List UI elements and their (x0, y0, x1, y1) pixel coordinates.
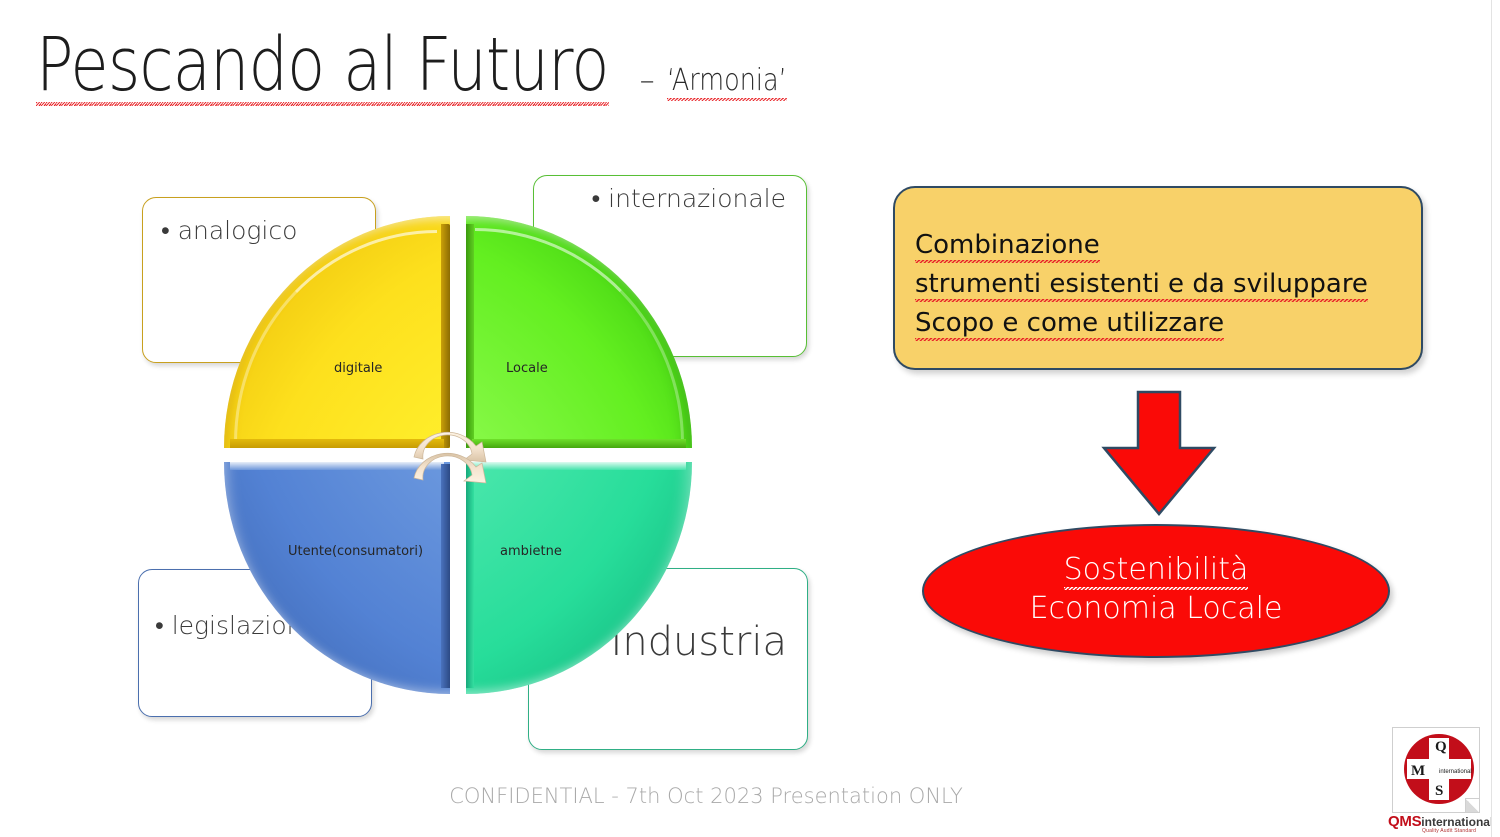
logo-page-fold-icon (1465, 798, 1479, 812)
logo-tagline: Quality Audit Standard (1422, 828, 1476, 834)
title-main-text: Pescando al Futuro (36, 28, 609, 106)
qms-logo: Q M S international QMSinternational Qua… (1386, 727, 1492, 837)
combination-callout-box[interactable]: Combinazione strumenti esistenti e da sv… (893, 186, 1423, 370)
logo-letter-m: M (1411, 764, 1425, 779)
slide-right-gutter (1491, 0, 1500, 837)
pie-label-locale: Locale (506, 361, 548, 376)
callout-label-internazionale: • internazionale (591, 184, 786, 214)
ellipse-line-1: Sostenibilità (924, 552, 1388, 587)
sostenibilita-ellipse[interactable]: Sostenibilità Economia Locale (922, 524, 1390, 658)
title-subtitle: ‘Armonia’ (667, 63, 787, 101)
pie-label-digitale: digitale (334, 361, 382, 376)
quadrant-pie-chart: digitale Locale Utente(consumatori) ambi… (224, 216, 692, 704)
combination-line-2: strumenti esistenti e da sviluppare (915, 269, 1368, 302)
pie-label-utente: Utente(consumatori) (288, 544, 423, 559)
slide-footer: CONFIDENTIAL - 7th Oct 2023 Presentation… (0, 784, 1412, 808)
cycle-arrows-icon (402, 402, 518, 522)
logo-letter-s: S (1435, 784, 1443, 799)
ellipse-line-2: Economia Locale (924, 591, 1388, 626)
logo-letter-q: Q (1435, 740, 1447, 755)
pie-label-ambietne: ambietne (500, 544, 562, 559)
down-arrow-icon (1098, 390, 1220, 518)
page-title: Pescando al Futuro – ‘Armonia’ (36, 28, 807, 106)
combination-line-3: Scopo e come utilizzare (915, 308, 1224, 341)
title-dash: – (640, 63, 655, 98)
logo-brand-suffix: international (1421, 815, 1492, 829)
logo-inner-word: international (1439, 769, 1472, 775)
logo-brand: QMS (1388, 813, 1421, 830)
slide-canvas: Pescando al Futuro – ‘Armonia’ • analogi… (0, 0, 1492, 837)
combination-line-1: Combinazione (915, 230, 1100, 263)
logo-card: Q M S international (1392, 727, 1480, 813)
